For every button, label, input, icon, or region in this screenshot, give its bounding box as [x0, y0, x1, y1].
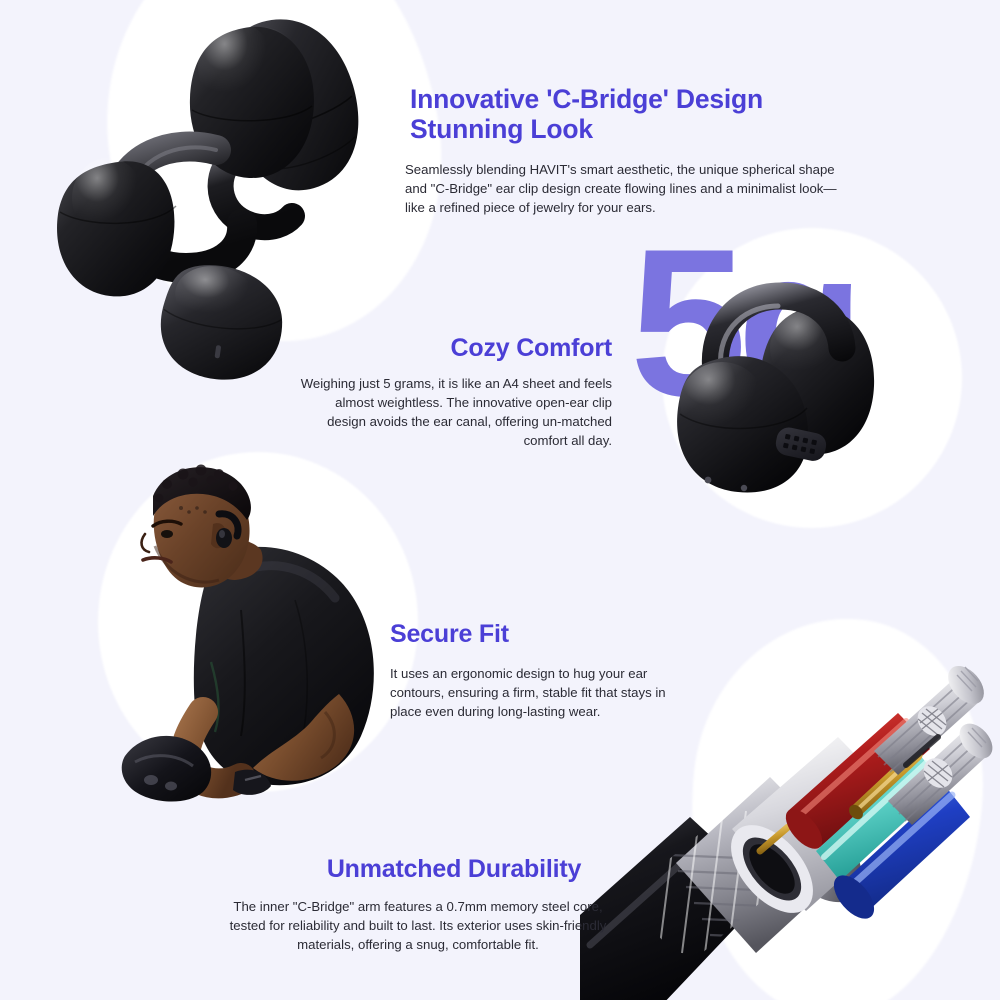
- section-body-fit: It uses an ergonomic design to hug your …: [390, 664, 682, 721]
- section-heading-durability: Unmatched Durability: [300, 855, 608, 884]
- open-ear-earbuds-pair-image: [30, 0, 430, 390]
- section-body-design: Seamlessly blending HAVIT's smart aesthe…: [405, 160, 847, 217]
- section-heading-design: Innovative 'C-Bridge' Design Stunning Lo…: [410, 84, 890, 144]
- section-heading-comfort: Cozy Comfort: [300, 334, 612, 363]
- product-infographic: 5g: [0, 0, 1000, 1000]
- section-body-durability: The inner "C-Bridge" arm features a 0.7m…: [228, 897, 608, 954]
- heading-line-1: Innovative 'C-Bridge' Design: [410, 84, 763, 114]
- single-earbud-image: [660, 262, 910, 492]
- heading-line-2: Stunning Look: [410, 114, 593, 144]
- section-body-comfort: Weighing just 5 grams, it is like an A4 …: [300, 374, 612, 450]
- cyclist-wearing-earbud-image: [95, 450, 425, 800]
- section-heading-fit: Secure Fit: [390, 620, 710, 649]
